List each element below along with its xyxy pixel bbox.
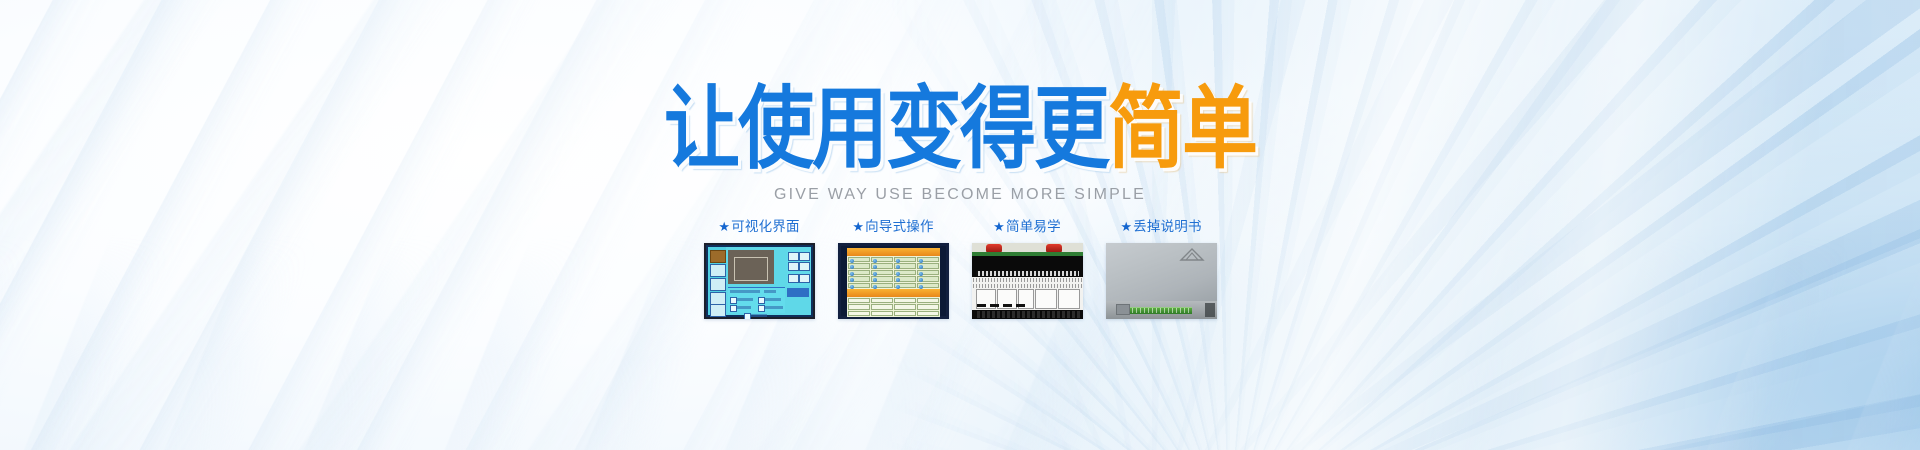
feature-label: ★可视化界面 (704, 215, 815, 235)
feature-label: ★丢掉说明书 (1106, 215, 1217, 235)
feature-item-visual-interface: ★可视化界面 (704, 215, 815, 319)
star-icon: ★ (718, 219, 730, 234)
feature-label-text: 可视化界面 (731, 219, 800, 234)
feature-thumbnail-grey-controller-enclosure (1106, 243, 1217, 319)
feature-label-text: 向导式操作 (865, 219, 934, 234)
headline-orange-text: 简单 (1108, 84, 1256, 174)
feature-label-text: 简单易学 (1006, 219, 1061, 234)
feature-label: ★向导式操作 (838, 215, 949, 235)
feature-thumbnail-visual-hmi-screen (704, 243, 815, 319)
star-icon: ★ (852, 219, 864, 234)
feature-label-text: 丢掉说明书 (1133, 219, 1202, 234)
star-icon: ★ (993, 219, 1005, 234)
headline: 让使用变得更简单 (0, 84, 1920, 160)
banner-content: 让使用变得更简单 GIVE WAY USE BECOME MORE SIMPLE… (0, 0, 1920, 450)
logo-mark-icon (1179, 247, 1205, 263)
feature-thumbnail-control-panel-terminals (972, 243, 1083, 319)
subtitle: GIVE WAY USE BECOME MORE SIMPLE (0, 186, 1920, 204)
promo-banner: 让使用变得更简单 GIVE WAY USE BECOME MORE SIMPLE… (0, 0, 1920, 450)
feature-item-easy-to-learn: ★简单易学 (972, 215, 1083, 319)
feature-thumbnail-wizard-menu-screen (838, 243, 949, 319)
feature-item-no-manual-needed: ★丢掉说明书 (1106, 215, 1217, 319)
star-icon: ★ (1120, 219, 1132, 234)
feature-label: ★简单易学 (972, 215, 1083, 235)
headline-blue-text: 让使用变得更 (664, 84, 1108, 174)
feature-item-wizard-operation: ★向导式操作 (838, 215, 949, 319)
feature-list: ★可视化界面 (0, 215, 1920, 319)
